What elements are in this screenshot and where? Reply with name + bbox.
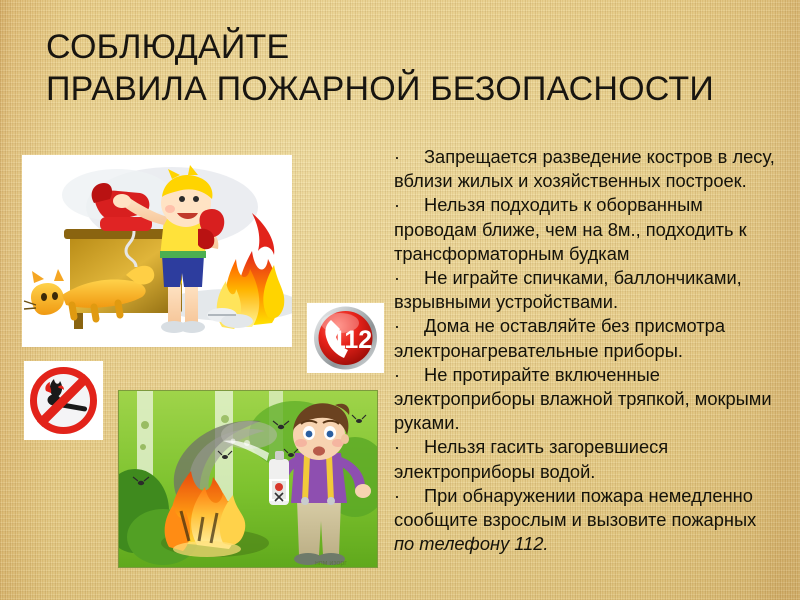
svg-text:нпм изорг: нпм изорг (315, 560, 347, 567)
safety-rule-item: ·Запрещается разведение костров в лесу, … (394, 145, 778, 193)
bullet-marker-icon: · (394, 314, 424, 338)
safety-rule-item: ·Дома не оставляйте без присмотра электр… (394, 314, 778, 362)
safety-rules-list: ·Запрещается разведение костров в лесу, … (394, 145, 778, 556)
bullet-marker-icon: · (394, 266, 424, 290)
badge-number: 112 (332, 326, 372, 354)
safety-rule-text: Нельзя подходить к оборванным проводам б… (394, 194, 747, 263)
safety-rule-text: Не играйте спичками, баллончиками, взрыв… (394, 267, 742, 312)
safety-rule-text: Запрещается разведение костров в лесу, в… (394, 146, 775, 191)
no-matches-prohibition-sign-image (24, 361, 103, 440)
bullet-marker-icon: · (394, 193, 424, 217)
safety-rule-item: ·Не играйте спичками, баллончиками, взры… (394, 266, 778, 314)
emergency-call-112-badge-image: 112 (307, 303, 384, 373)
safety-rule-text: Не протирайте включенные электроприборы … (394, 364, 772, 433)
bullet-marker-icon: · (394, 145, 424, 169)
safety-rule-text-emphasis: по телефону 112. (394, 533, 549, 554)
safety-rule-item: ·Нельзя подходить к оборванным проводам … (394, 193, 778, 266)
safety-rule-item: ·При обнаружении пожара немедленно сообщ… (394, 484, 778, 557)
boy-calling-fire-brigade-image (22, 155, 292, 347)
bullet-marker-icon: · (394, 363, 424, 387)
page-title: СОБЛЮДАЙТЕ ПРАВИЛА ПОЖАРНОЙ БЕЗОПАСНОСТИ (46, 26, 776, 110)
safety-rule-item: ·Не протирайте включенные электроприборы… (394, 363, 778, 436)
safety-rule-text: Дома не оставляйте без присмотра электро… (394, 315, 725, 360)
safety-rule-text: Нельзя гасить загоревшиеся электроприбор… (394, 436, 668, 481)
safety-rule-item: ·Нельзя гасить загоревшиеся электроприбо… (394, 435, 778, 483)
bullet-marker-icon: · (394, 484, 424, 508)
safety-rule-text: При обнаружении пожара немедленно сообщи… (394, 485, 756, 530)
boy-spraying-aerosol-near-forest-fire-image: нпм изорг (118, 390, 378, 568)
slide-root: СОБЛЮДАЙТЕ ПРАВИЛА ПОЖАРНОЙ БЕЗОПАСНОСТИ (0, 0, 800, 600)
bullet-marker-icon: · (394, 435, 424, 459)
